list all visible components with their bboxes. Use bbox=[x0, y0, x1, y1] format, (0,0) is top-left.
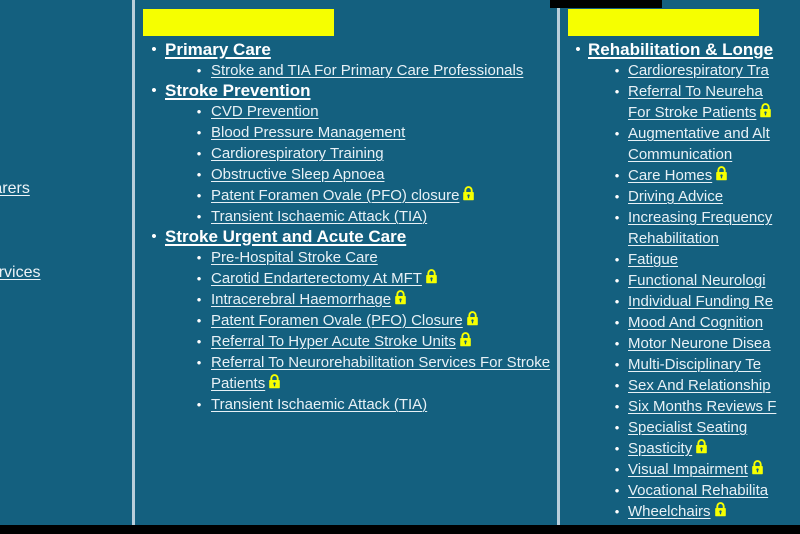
list-item-text: Multi-Disciplinary Te bbox=[628, 354, 800, 375]
list-item-label-line2: Rehabilitation bbox=[628, 230, 719, 247]
bullet-icon: • bbox=[606, 270, 628, 291]
list-item-text: Visual Impairment bbox=[628, 459, 800, 480]
top-black-strip bbox=[550, 0, 662, 8]
lock-icon bbox=[759, 103, 772, 118]
list-item-text: CVD Prevention bbox=[211, 101, 556, 122]
list-item-label: Driving Advice bbox=[628, 188, 723, 205]
list-item-label: Multi-Disciplinary Te bbox=[628, 356, 761, 373]
list-item-label: Augmentative and Alt bbox=[628, 125, 770, 142]
list-item-text: Pre-Hospital Stroke Care bbox=[211, 247, 556, 268]
bullet-icon: • bbox=[606, 459, 628, 480]
list-item-text: Intracerebral Haemorrhage bbox=[211, 289, 556, 310]
list-item-label: Blood Pressure Management bbox=[211, 124, 405, 141]
sub-list: •Cardiorespiratory Tra•Referral To Neure… bbox=[568, 60, 800, 522]
lock-icon bbox=[462, 186, 475, 201]
list-item[interactable]: •Individual Funding Re bbox=[568, 291, 800, 312]
list-item-text: Wheelchairs bbox=[628, 501, 800, 522]
bullet-icon: • bbox=[143, 81, 165, 101]
bullet-icon: • bbox=[143, 227, 165, 247]
list-item-label: Six Months Reviews F bbox=[628, 398, 776, 415]
left-column: vices pactsents & Carersoke Careabilitat… bbox=[0, 0, 132, 525]
bullet-icon: • bbox=[187, 352, 211, 373]
list-item[interactable]: •Obstructive Sleep Apnoea bbox=[143, 164, 557, 185]
list-item-text: Referral To Hyper Acute Stroke Units bbox=[211, 331, 556, 352]
list-item[interactable]: •Care Homes bbox=[568, 165, 800, 186]
sub-list: •Stroke and TIA For Primary Care Profess… bbox=[143, 60, 557, 81]
right-column: Professionals #2 •Rehabilitation & Longe… bbox=[560, 0, 800, 525]
bullet-icon: • bbox=[606, 312, 628, 333]
bullet-icon: • bbox=[606, 291, 628, 312]
bullet-icon: • bbox=[187, 331, 211, 352]
bullet-icon: • bbox=[606, 417, 628, 438]
list-item-text: Spasticity bbox=[628, 438, 800, 459]
column-divider-left bbox=[132, 0, 135, 525]
bullet-icon: • bbox=[187, 289, 211, 310]
bullet-icon: • bbox=[606, 501, 628, 522]
group-item: •Rehabilitation & Longe•Cardiorespirator… bbox=[568, 40, 800, 522]
list-item-text: Motor Neurone Disea bbox=[628, 333, 800, 354]
list-item-text: Stroke and TIA For Primary Care Professi… bbox=[211, 60, 556, 81]
list-item-label: Spasticity bbox=[628, 440, 692, 457]
list-item-text: Individual Funding Re bbox=[628, 291, 800, 312]
bullet-icon: • bbox=[606, 207, 628, 228]
bullet-icon: • bbox=[187, 247, 211, 268]
list-item[interactable]: •Patent Foramen Ovale (PFO) Closure bbox=[143, 310, 557, 331]
lock-icon bbox=[466, 311, 479, 326]
list-item[interactable]: •Intracerebral Haemorrhage bbox=[143, 289, 557, 310]
list-item-label: CVD Prevention bbox=[211, 103, 319, 120]
list-item[interactable]: •Wheelchairs bbox=[568, 501, 800, 522]
list-item[interactable]: •Multi-Disciplinary Te bbox=[568, 354, 800, 375]
list-item-text: Fatigue bbox=[628, 249, 800, 270]
group-item: •Primary Care•Stroke and TIA For Primary… bbox=[143, 40, 557, 81]
group-heading[interactable]: •Stroke Urgent and Acute Care bbox=[143, 227, 557, 247]
bullet-icon: • bbox=[606, 375, 628, 396]
list-item[interactable]: •Cardiorespiratory Tra bbox=[568, 60, 800, 81]
list-item-text: Sex And Relationship bbox=[628, 375, 800, 396]
bullet-icon: • bbox=[606, 396, 628, 417]
list-item-text: Augmentative and AltCommunication bbox=[628, 123, 800, 165]
list-item-label: Intracerebral Haemorrhage bbox=[211, 291, 391, 308]
list-item-label: Pre-Hospital Stroke Care bbox=[211, 249, 378, 266]
lock-icon bbox=[714, 502, 727, 517]
list-item[interactable]: •Carotid Endarterectomy At MFT bbox=[143, 268, 557, 289]
slide-canvas: vices pactsents & Carersoke Careabilitat… bbox=[0, 0, 800, 534]
middle-column-group-list: •Primary Care•Stroke and TIA For Primary… bbox=[143, 40, 557, 415]
list-item[interactable]: •Transient Ischaemic Attack (TIA) bbox=[143, 206, 557, 227]
list-item-label: Referral To Neurorehabilitation Services… bbox=[211, 354, 550, 392]
list-item[interactable]: •Pre-Hospital Stroke Care bbox=[143, 247, 557, 268]
bullet-icon: • bbox=[606, 480, 628, 501]
list-item-text: Referral To Neurorehabilitation Services… bbox=[211, 352, 556, 394]
group-heading-label: Primary Care bbox=[165, 40, 271, 60]
list-item-text: Patent Foramen Ovale (PFO) Closure bbox=[211, 310, 556, 331]
group-heading[interactable]: •Rehabilitation & Longe bbox=[568, 40, 800, 60]
list-item[interactable]: •CVD Prevention bbox=[143, 101, 557, 122]
middle-column-title-suffix: #1 bbox=[300, 9, 333, 36]
list-item-label: Individual Funding Re bbox=[628, 293, 773, 310]
left-column-list-item[interactable]: abilitation bbox=[0, 220, 41, 241]
middle-column-title-main: Professionals bbox=[143, 9, 300, 36]
list-item-text: Transient Ischaemic Attack (TIA) bbox=[211, 394, 556, 415]
list-item-label: Increasing Frequency bbox=[628, 209, 772, 226]
list-item[interactable]: •Spasticity bbox=[568, 438, 800, 459]
list-item-label: Care Homes bbox=[628, 167, 712, 184]
list-item-text: Transient Ischaemic Attack (TIA) bbox=[211, 206, 556, 227]
group-heading-label: Stroke Prevention bbox=[165, 81, 311, 101]
bullet-icon: • bbox=[187, 164, 211, 185]
bullet-icon: • bbox=[187, 101, 211, 122]
list-item-text: Care Homes bbox=[628, 165, 800, 186]
list-item[interactable]: •Vocational Rehabilita bbox=[568, 480, 800, 501]
list-item-label-line2: For Stroke Patients bbox=[628, 104, 756, 121]
list-item[interactable]: •Visual Impairment bbox=[568, 459, 800, 480]
group-heading-label: Rehabilitation & Longe bbox=[588, 40, 773, 60]
left-column-list-item[interactable]: pacts bbox=[0, 157, 41, 178]
right-column-title: Professionals #2 bbox=[568, 10, 800, 37]
bullet-icon: • bbox=[187, 143, 211, 164]
list-item-label: Specialist Seating bbox=[628, 419, 747, 436]
list-item-text: Cardiorespiratory Training bbox=[211, 143, 556, 164]
sub-list: •CVD Prevention•Blood Pressure Managemen… bbox=[143, 101, 557, 227]
list-item[interactable]: •Increasing FrequencyRehabilitation bbox=[568, 207, 800, 249]
list-item-label: Patent Foramen Ovale (PFO) Closure bbox=[211, 312, 463, 329]
list-item[interactable]: •Six Months Reviews F bbox=[568, 396, 800, 417]
list-item-label: Visual Impairment bbox=[628, 461, 748, 478]
list-item[interactable]: •Sex And Relationship bbox=[568, 375, 800, 396]
list-item[interactable]: •Driving Advice bbox=[568, 186, 800, 207]
list-item[interactable]: •Augmentative and AltCommunication bbox=[568, 123, 800, 165]
bullet-icon: • bbox=[187, 310, 211, 331]
bullet-icon: • bbox=[606, 123, 628, 144]
bullet-icon: • bbox=[187, 60, 211, 81]
left-column-list-item[interactable]: tcomes bbox=[0, 283, 41, 304]
list-item[interactable]: •Specialist Seating bbox=[568, 417, 800, 438]
bullet-icon: • bbox=[187, 394, 211, 415]
list-item-text: Patent Foramen Ovale (PFO) closure bbox=[211, 185, 556, 206]
list-item[interactable]: •Referral To Hyper Acute Stroke Units bbox=[143, 331, 557, 352]
lock-icon bbox=[459, 332, 472, 347]
list-item[interactable]: •Patent Foramen Ovale (PFO) closure bbox=[143, 185, 557, 206]
bullet-icon: • bbox=[606, 333, 628, 354]
list-item-label: Cardiorespiratory Tra bbox=[628, 62, 769, 79]
bullet-icon: • bbox=[606, 249, 628, 270]
bullet-icon: • bbox=[187, 122, 211, 143]
right-column-title-suffix: #2 bbox=[725, 9, 758, 36]
bullet-icon: • bbox=[606, 165, 628, 186]
lock-icon bbox=[394, 290, 407, 305]
list-item-text: Obstructive Sleep Apnoea bbox=[211, 164, 556, 185]
list-item[interactable]: •Transient Ischaemic Attack (TIA) bbox=[143, 394, 557, 415]
list-item-label: Transient Ischaemic Attack (TIA) bbox=[211, 396, 427, 413]
list-item-label: Cardiorespiratory Training bbox=[211, 145, 384, 162]
list-item-text: Referral To NeurehaFor Stroke Patients bbox=[628, 81, 800, 123]
bullet-icon: • bbox=[606, 354, 628, 375]
list-item-label: Mood And Cognition bbox=[628, 314, 763, 331]
list-item-text: Functional Neurologi bbox=[628, 270, 800, 291]
bullet-icon: • bbox=[187, 185, 211, 206]
list-item-label: Sex And Relationship bbox=[628, 377, 771, 394]
list-item-text: Increasing FrequencyRehabilitation bbox=[628, 207, 800, 249]
list-item[interactable]: •Mood And Cognition bbox=[568, 312, 800, 333]
right-column-title-main: Professionals bbox=[568, 9, 725, 36]
list-item[interactable]: •Fatigue bbox=[568, 249, 800, 270]
list-item-label: Stroke and TIA For Primary Care Professi… bbox=[211, 62, 523, 79]
list-item-text: Driving Advice bbox=[628, 186, 800, 207]
bullet-icon: • bbox=[606, 186, 628, 207]
list-item-label: Vocational Rehabilita bbox=[628, 482, 768, 499]
lock-icon bbox=[695, 439, 708, 454]
list-item-text: Mood And Cognition bbox=[628, 312, 800, 333]
list-item[interactable]: •Referral To Neurorehabilitation Service… bbox=[143, 352, 557, 394]
left-column-list-item[interactable]: mmunity bbox=[0, 241, 41, 262]
list-item-text: Blood Pressure Management bbox=[211, 122, 556, 143]
left-column-list: pactsents & Carersoke Careabilitationmmu… bbox=[0, 157, 41, 304]
group-item: •Stroke Prevention•CVD Prevention•Blood … bbox=[143, 81, 557, 227]
list-item-label: Referral To Hyper Acute Stroke Units bbox=[211, 333, 456, 350]
list-item-label: Motor Neurone Disea bbox=[628, 335, 771, 352]
bullet-icon: • bbox=[143, 40, 165, 60]
list-item-text: Vocational Rehabilita bbox=[628, 480, 800, 501]
list-item[interactable]: •Stroke and TIA For Primary Care Profess… bbox=[143, 60, 557, 81]
middle-column-title: Professionals #1 bbox=[143, 10, 557, 37]
group-item: •Stroke Urgent and Acute Care•Pre-Hospit… bbox=[143, 227, 557, 415]
list-item-label: Transient Ischaemic Attack (TIA) bbox=[211, 208, 427, 225]
list-item[interactable]: •Cardiorespiratory Training bbox=[143, 143, 557, 164]
bullet-icon: • bbox=[606, 60, 628, 81]
list-item-label-line2: Communication bbox=[628, 146, 732, 163]
list-item-label: Patent Foramen Ovale (PFO) closure bbox=[211, 187, 459, 204]
list-item[interactable]: •Motor Neurone Disea bbox=[568, 333, 800, 354]
list-item-label: Fatigue bbox=[628, 251, 678, 268]
lock-icon bbox=[715, 166, 728, 181]
list-item[interactable]: •Blood Pressure Management bbox=[143, 122, 557, 143]
list-item-label: Functional Neurologi bbox=[628, 272, 766, 289]
sub-list: •Pre-Hospital Stroke Care•Carotid Endart… bbox=[143, 247, 557, 415]
list-item-text: Six Months Reviews F bbox=[628, 396, 800, 417]
column-divider-right bbox=[557, 0, 560, 525]
list-item-text: Carotid Endarterectomy At MFT bbox=[211, 268, 556, 289]
left-column-list-item[interactable]: oke Care bbox=[0, 199, 41, 220]
left-column-list-item[interactable]: cation Services bbox=[0, 262, 41, 283]
group-heading[interactable]: •Primary Care bbox=[143, 40, 557, 60]
list-item-label: Referral To Neureha bbox=[628, 83, 763, 100]
list-item[interactable]: •Referral To NeurehaFor Stroke Patients bbox=[568, 81, 800, 123]
group-heading-label: Stroke Urgent and Acute Care bbox=[165, 227, 406, 247]
bullet-icon: • bbox=[568, 40, 588, 60]
list-item-text: Specialist Seating bbox=[628, 417, 800, 438]
right-column-group-list: •Rehabilitation & Longe•Cardiorespirator… bbox=[568, 40, 800, 522]
lock-icon bbox=[425, 269, 438, 284]
bullet-icon: • bbox=[606, 81, 628, 102]
list-item-text: Cardiorespiratory Tra bbox=[628, 60, 800, 81]
middle-column: Professionals #1 •Primary Care•Stroke an… bbox=[135, 0, 557, 525]
bullet-icon: • bbox=[187, 268, 211, 289]
left-column-list-item[interactable]: ents & Carers bbox=[0, 178, 41, 199]
bullet-icon: • bbox=[606, 438, 628, 459]
bottom-black-strip bbox=[0, 525, 800, 534]
list-item-label: Carotid Endarterectomy At MFT bbox=[211, 270, 422, 287]
lock-icon bbox=[751, 460, 764, 475]
bullet-icon: • bbox=[187, 206, 211, 227]
lock-icon bbox=[268, 374, 281, 389]
group-heading[interactable]: •Stroke Prevention bbox=[143, 81, 557, 101]
list-item[interactable]: •Functional Neurologi bbox=[568, 270, 800, 291]
list-item-label: Obstructive Sleep Apnoea bbox=[211, 166, 384, 183]
list-item-label: Wheelchairs bbox=[628, 503, 711, 520]
